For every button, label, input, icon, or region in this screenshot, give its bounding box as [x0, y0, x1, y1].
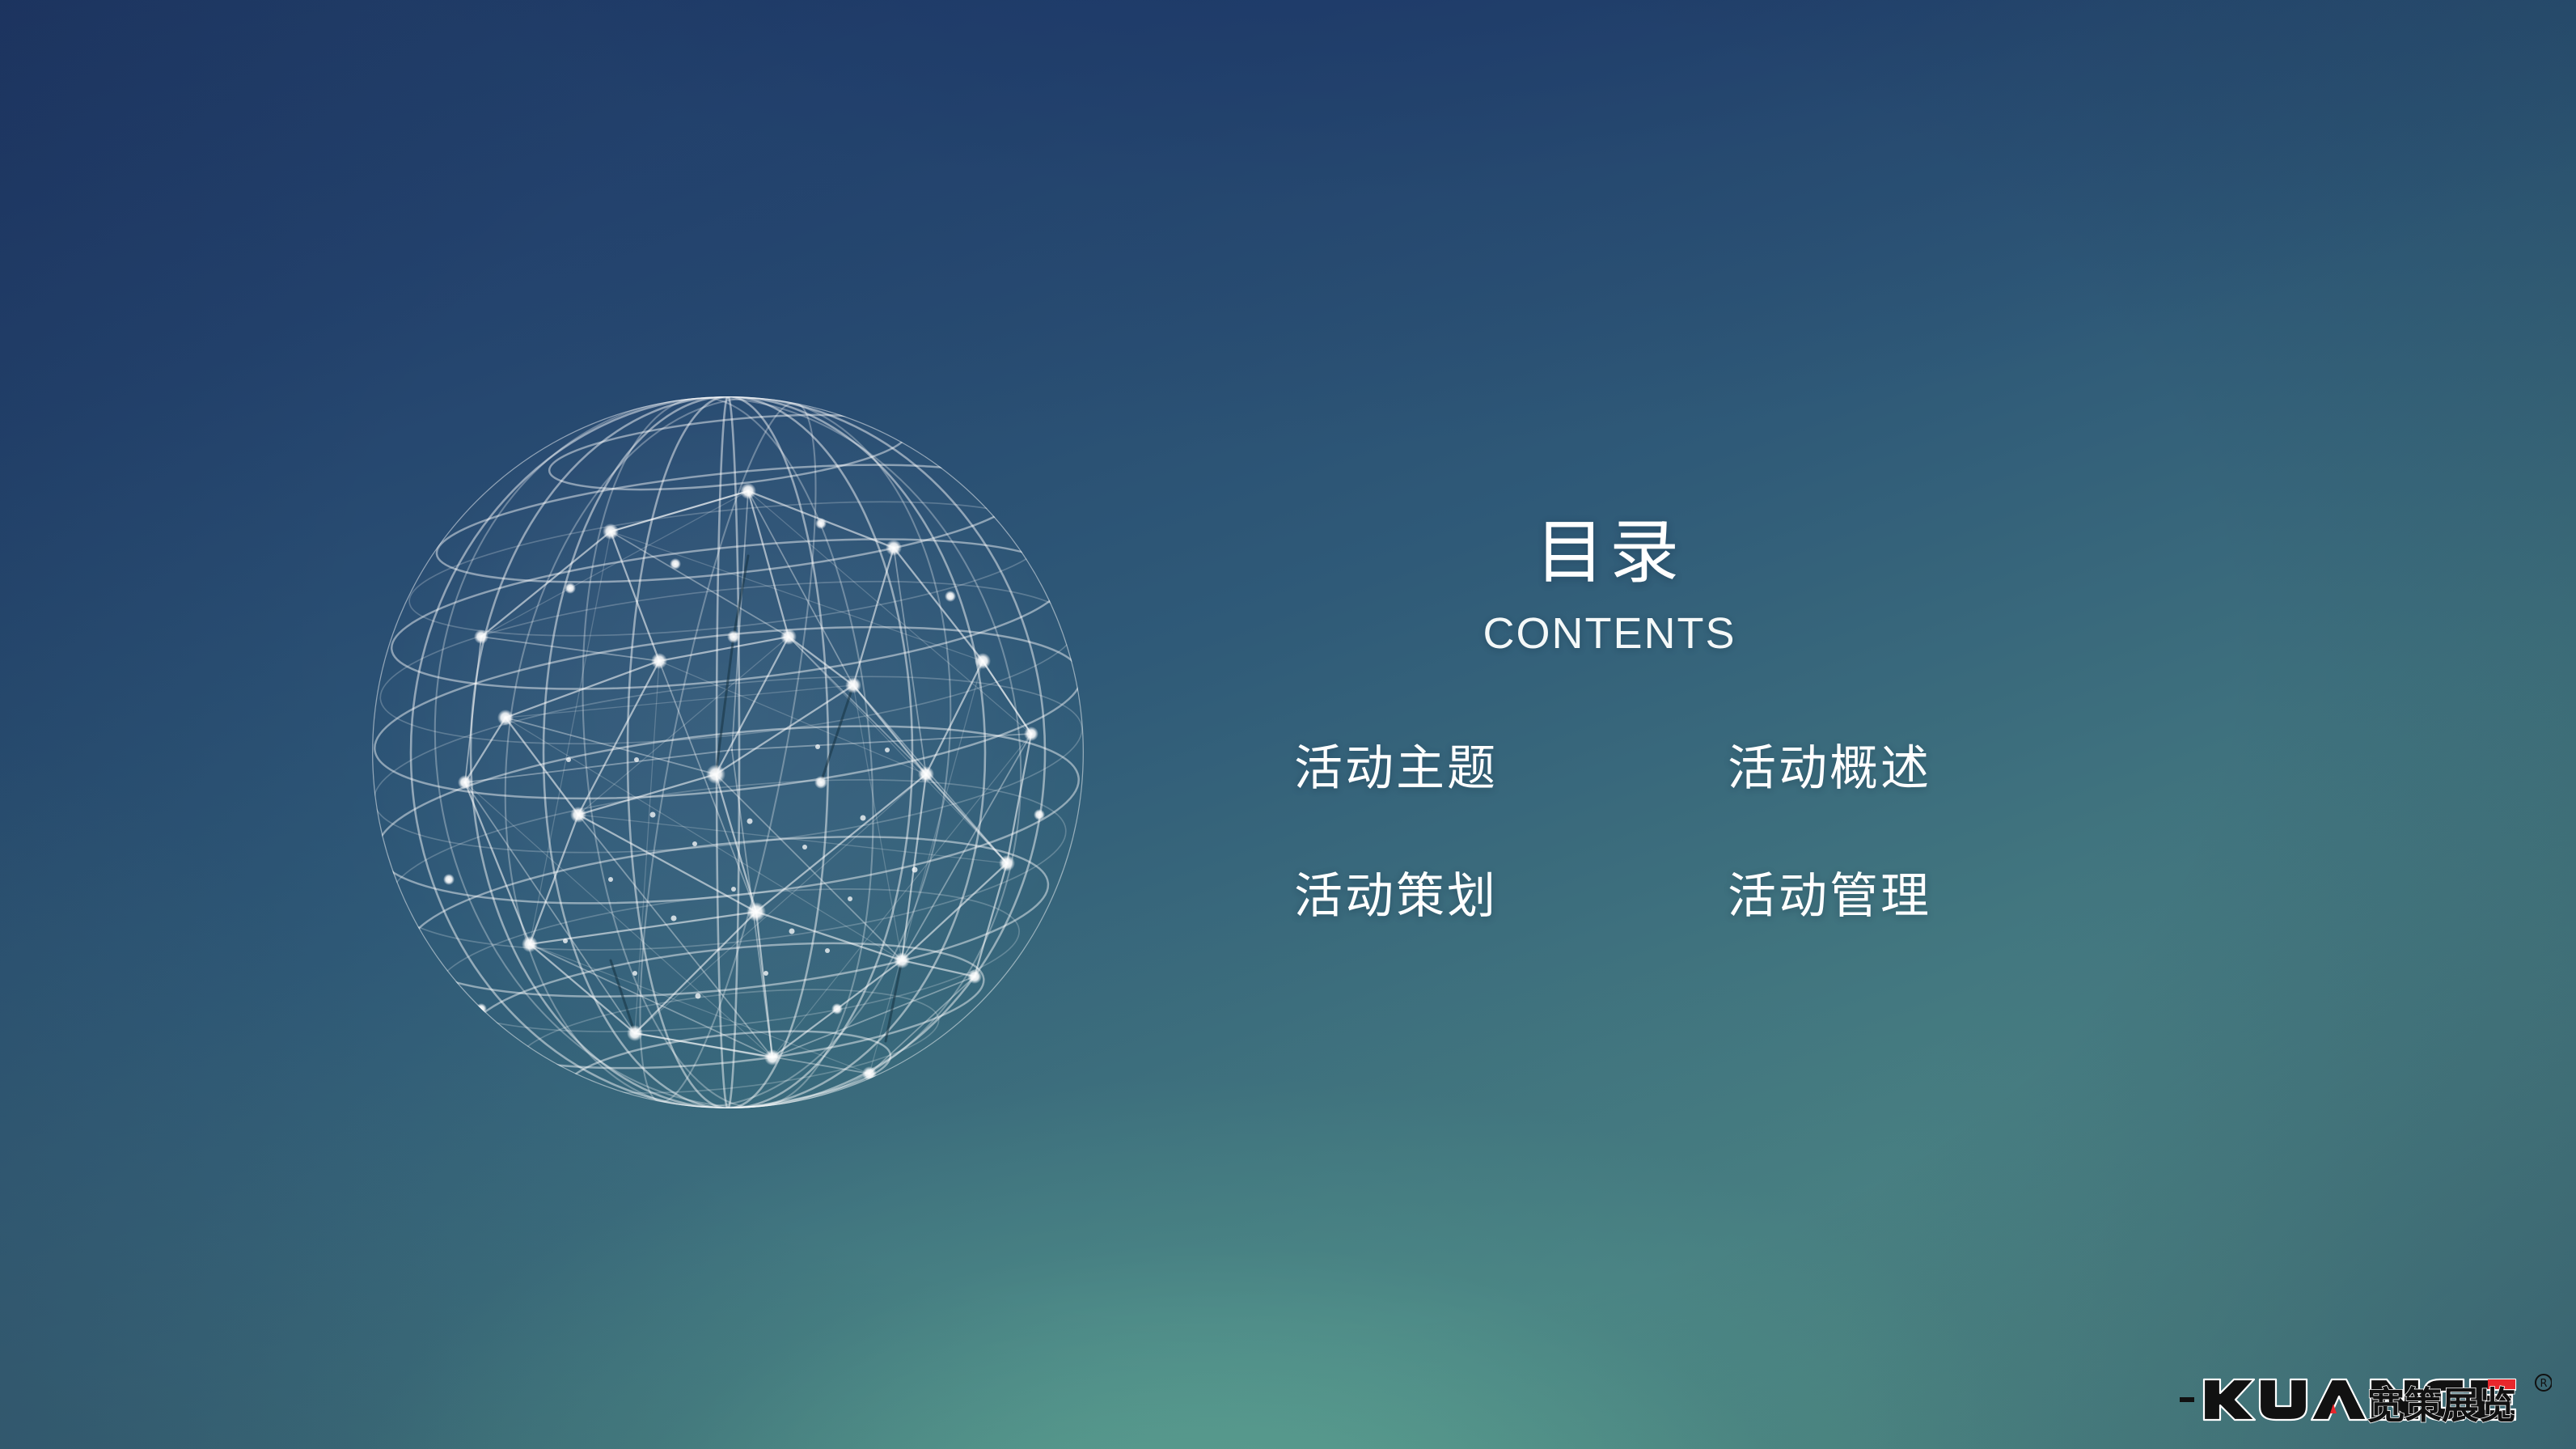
- brand-logo: 宽策展览 R: [2180, 1368, 2552, 1431]
- heading-block: 目录 CONTENTS: [1294, 518, 1925, 655]
- menu-item-activity-overview[interactable]: 活动概述: [1728, 744, 2022, 793]
- presentation-slide: 目录 CONTENTS 活动主题 活动概述 活动策划 活动管理: [0, 0, 2576, 1449]
- logo-registered-icon: R: [2536, 1375, 2552, 1391]
- contents-menu: 活动主题 活动概述 活动策划 活动管理: [1294, 744, 2022, 921]
- page-title: 目录: [1294, 518, 1925, 587]
- menu-item-activity-theme[interactable]: 活动主题: [1294, 744, 1728, 793]
- logo-name-cn: 宽策展览: [2367, 1383, 2516, 1427]
- page-subtitle: CONTENTS: [1294, 612, 1925, 655]
- menu-item-activity-planning[interactable]: 活动策划: [1294, 872, 1728, 921]
- svg-text:宽策展览: 宽策展览: [2367, 1383, 2516, 1427]
- network-globe-icon: [368, 394, 1088, 1111]
- svg-text:R: R: [2540, 1378, 2547, 1390]
- contents-panel: 目录 CONTENTS 活动主题 活动概述 活动策划 活动管理: [1294, 518, 2022, 1019]
- logo-dash-mark: [2180, 1397, 2194, 1402]
- menu-item-activity-management[interactable]: 活动管理: [1728, 872, 2022, 921]
